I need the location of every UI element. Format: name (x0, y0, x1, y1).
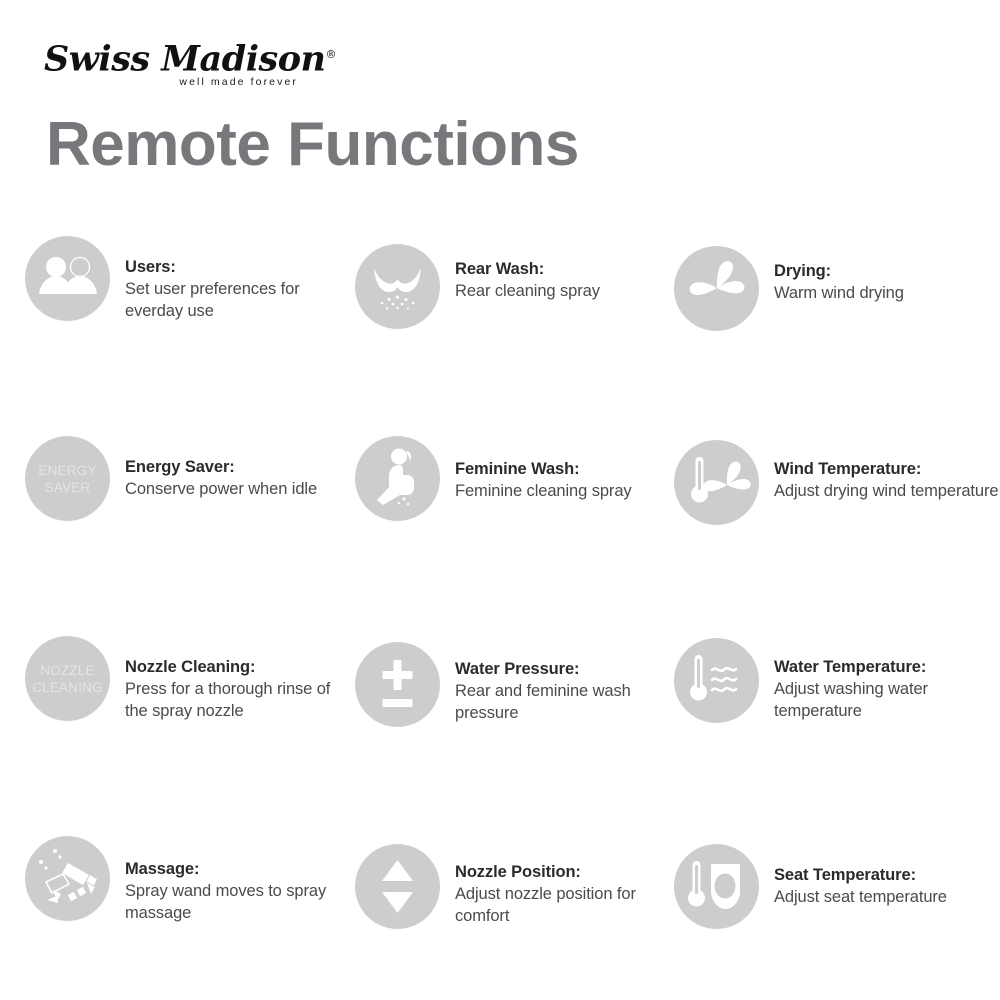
feature-description: Conserve power when idle (125, 478, 317, 500)
feature-item-nozzle-position: Nozzle Position: Adjust nozzle position … (333, 836, 666, 1000)
feature-description: Warm wind drying (774, 282, 904, 304)
energy-saver-label: ENERGY SAVER (25, 436, 110, 521)
page-title: Remote Functions (46, 108, 579, 182)
feature-item-drying: Drying: Warm wind drying (666, 236, 999, 436)
feature-title: Water Pressure: (455, 658, 666, 680)
energy-saver-label-line1: ENERGY (38, 462, 96, 479)
seated-woman-icon (355, 436, 440, 521)
feature-text: Nozzle Cleaning: Press for a thorough ri… (110, 636, 333, 722)
thermometer-seat-icon (674, 844, 759, 929)
feature-text: Users: Set user preferences for everday … (110, 236, 333, 322)
brand-name-text: Swiss Madison (44, 39, 325, 80)
feature-description: Adjust washing water temperature (774, 678, 999, 722)
feature-text: Rear Wash: Rear cleaning spray (440, 236, 600, 302)
up-down-arrows-icon (355, 844, 440, 929)
nozzle-cleaning-label: NOZZLE CLEANING (25, 636, 110, 721)
brand-name: Swiss Madison® (44, 36, 304, 79)
rear-wash-spray-icon (355, 244, 440, 329)
feature-item-energy-saver: ENERGY SAVER Energy Saver: Conserve powe… (0, 436, 333, 636)
feature-title: Users: (125, 256, 333, 278)
feature-description: Feminine cleaning spray (455, 480, 632, 502)
feature-title: Rear Wash: (455, 258, 600, 280)
feature-item-seat-temperature: Seat Temperature: Adjust seat temperatur… (666, 836, 999, 1000)
remote-functions-infographic: Swiss Madison® well made forever Remote … (0, 0, 1000, 1000)
energy-saver-label-line2: SAVER (45, 479, 91, 496)
feature-description: Spray wand moves to spray massage (125, 880, 333, 924)
plus-minus-icon (355, 642, 440, 727)
feature-item-nozzle-cleaning: NOZZLE CLEANING Nozzle Cleaning: Press f… (0, 636, 333, 836)
feature-text: Water Temperature: Adjust washing water … (759, 636, 999, 722)
feature-description: Set user preferences for everday use (125, 278, 333, 322)
feature-title: Water Temperature: (774, 656, 999, 678)
thermometer-waves-icon (674, 638, 759, 723)
feature-description: Rear cleaning spray (455, 280, 600, 302)
nozzle-cleaning-label-line2: CLEANING (32, 679, 103, 696)
feature-title: Seat Temperature: (774, 864, 947, 886)
thermometer-fan-icon (674, 440, 759, 525)
spray-wand-arrows-icon (25, 836, 110, 921)
feature-title: Energy Saver: (125, 456, 317, 478)
feature-title: Nozzle Cleaning: (125, 656, 333, 678)
features-row: NOZZLE CLEANING Nozzle Cleaning: Press f… (0, 636, 1000, 836)
feature-item-water-pressure: Water Pressure: Rear and feminine wash p… (333, 636, 666, 836)
nozzle-cleaning-label-line1: NOZZLE (40, 662, 94, 679)
feature-text: Wind Temperature: Adjust drying wind tem… (759, 436, 998, 502)
feature-text: Water Pressure: Rear and feminine wash p… (440, 636, 666, 724)
feature-title: Massage: (125, 858, 333, 880)
registered-trademark-icon: ® (325, 48, 336, 61)
feature-description: Press for a thorough rinse of the spray … (125, 678, 333, 722)
feature-text: Nozzle Position: Adjust nozzle position … (440, 836, 666, 927)
feature-description: Rear and feminine wash pressure (455, 680, 666, 724)
feature-item-water-temperature: Water Temperature: Adjust washing water … (666, 636, 999, 836)
two-users-icon (25, 236, 110, 321)
feature-item-users: Users: Set user preferences for everday … (0, 236, 333, 436)
fan-blades-icon (674, 246, 759, 331)
nozzle-cleaning-text-icon: NOZZLE CLEANING (25, 636, 110, 721)
features-row: Users: Set user preferences for everday … (0, 236, 1000, 436)
feature-description: Adjust seat temperature (774, 886, 947, 908)
feature-item-rear-wash: Rear Wash: Rear cleaning spray (333, 236, 666, 436)
feature-item-wind-temperature: Wind Temperature: Adjust drying wind tem… (666, 436, 999, 636)
feature-title: Drying: (774, 260, 904, 282)
feature-description: Adjust drying wind temperature (774, 480, 998, 502)
feature-text: Energy Saver: Conserve power when idle (110, 436, 317, 500)
feature-text: Seat Temperature: Adjust seat temperatur… (759, 836, 947, 908)
brand-logo: Swiss Madison® well made forever (44, 36, 304, 92)
features-row: ENERGY SAVER Energy Saver: Conserve powe… (0, 436, 1000, 636)
feature-text: Massage: Spray wand moves to spray massa… (110, 836, 333, 924)
features-grid: Users: Set user preferences for everday … (0, 236, 1000, 1000)
feature-item-feminine-wash: Feminine Wash: Feminine cleaning spray (333, 436, 666, 636)
features-row: Massage: Spray wand moves to spray massa… (0, 836, 1000, 1000)
feature-text: Feminine Wash: Feminine cleaning spray (440, 436, 632, 502)
feature-title: Feminine Wash: (455, 458, 632, 480)
feature-title: Nozzle Position: (455, 861, 666, 883)
energy-saver-text-icon: ENERGY SAVER (25, 436, 110, 521)
feature-item-massage: Massage: Spray wand moves to spray massa… (0, 836, 333, 1000)
feature-title: Wind Temperature: (774, 458, 998, 480)
feature-description: Adjust nozzle position for comfort (455, 883, 666, 927)
feature-text: Drying: Warm wind drying (759, 236, 904, 304)
